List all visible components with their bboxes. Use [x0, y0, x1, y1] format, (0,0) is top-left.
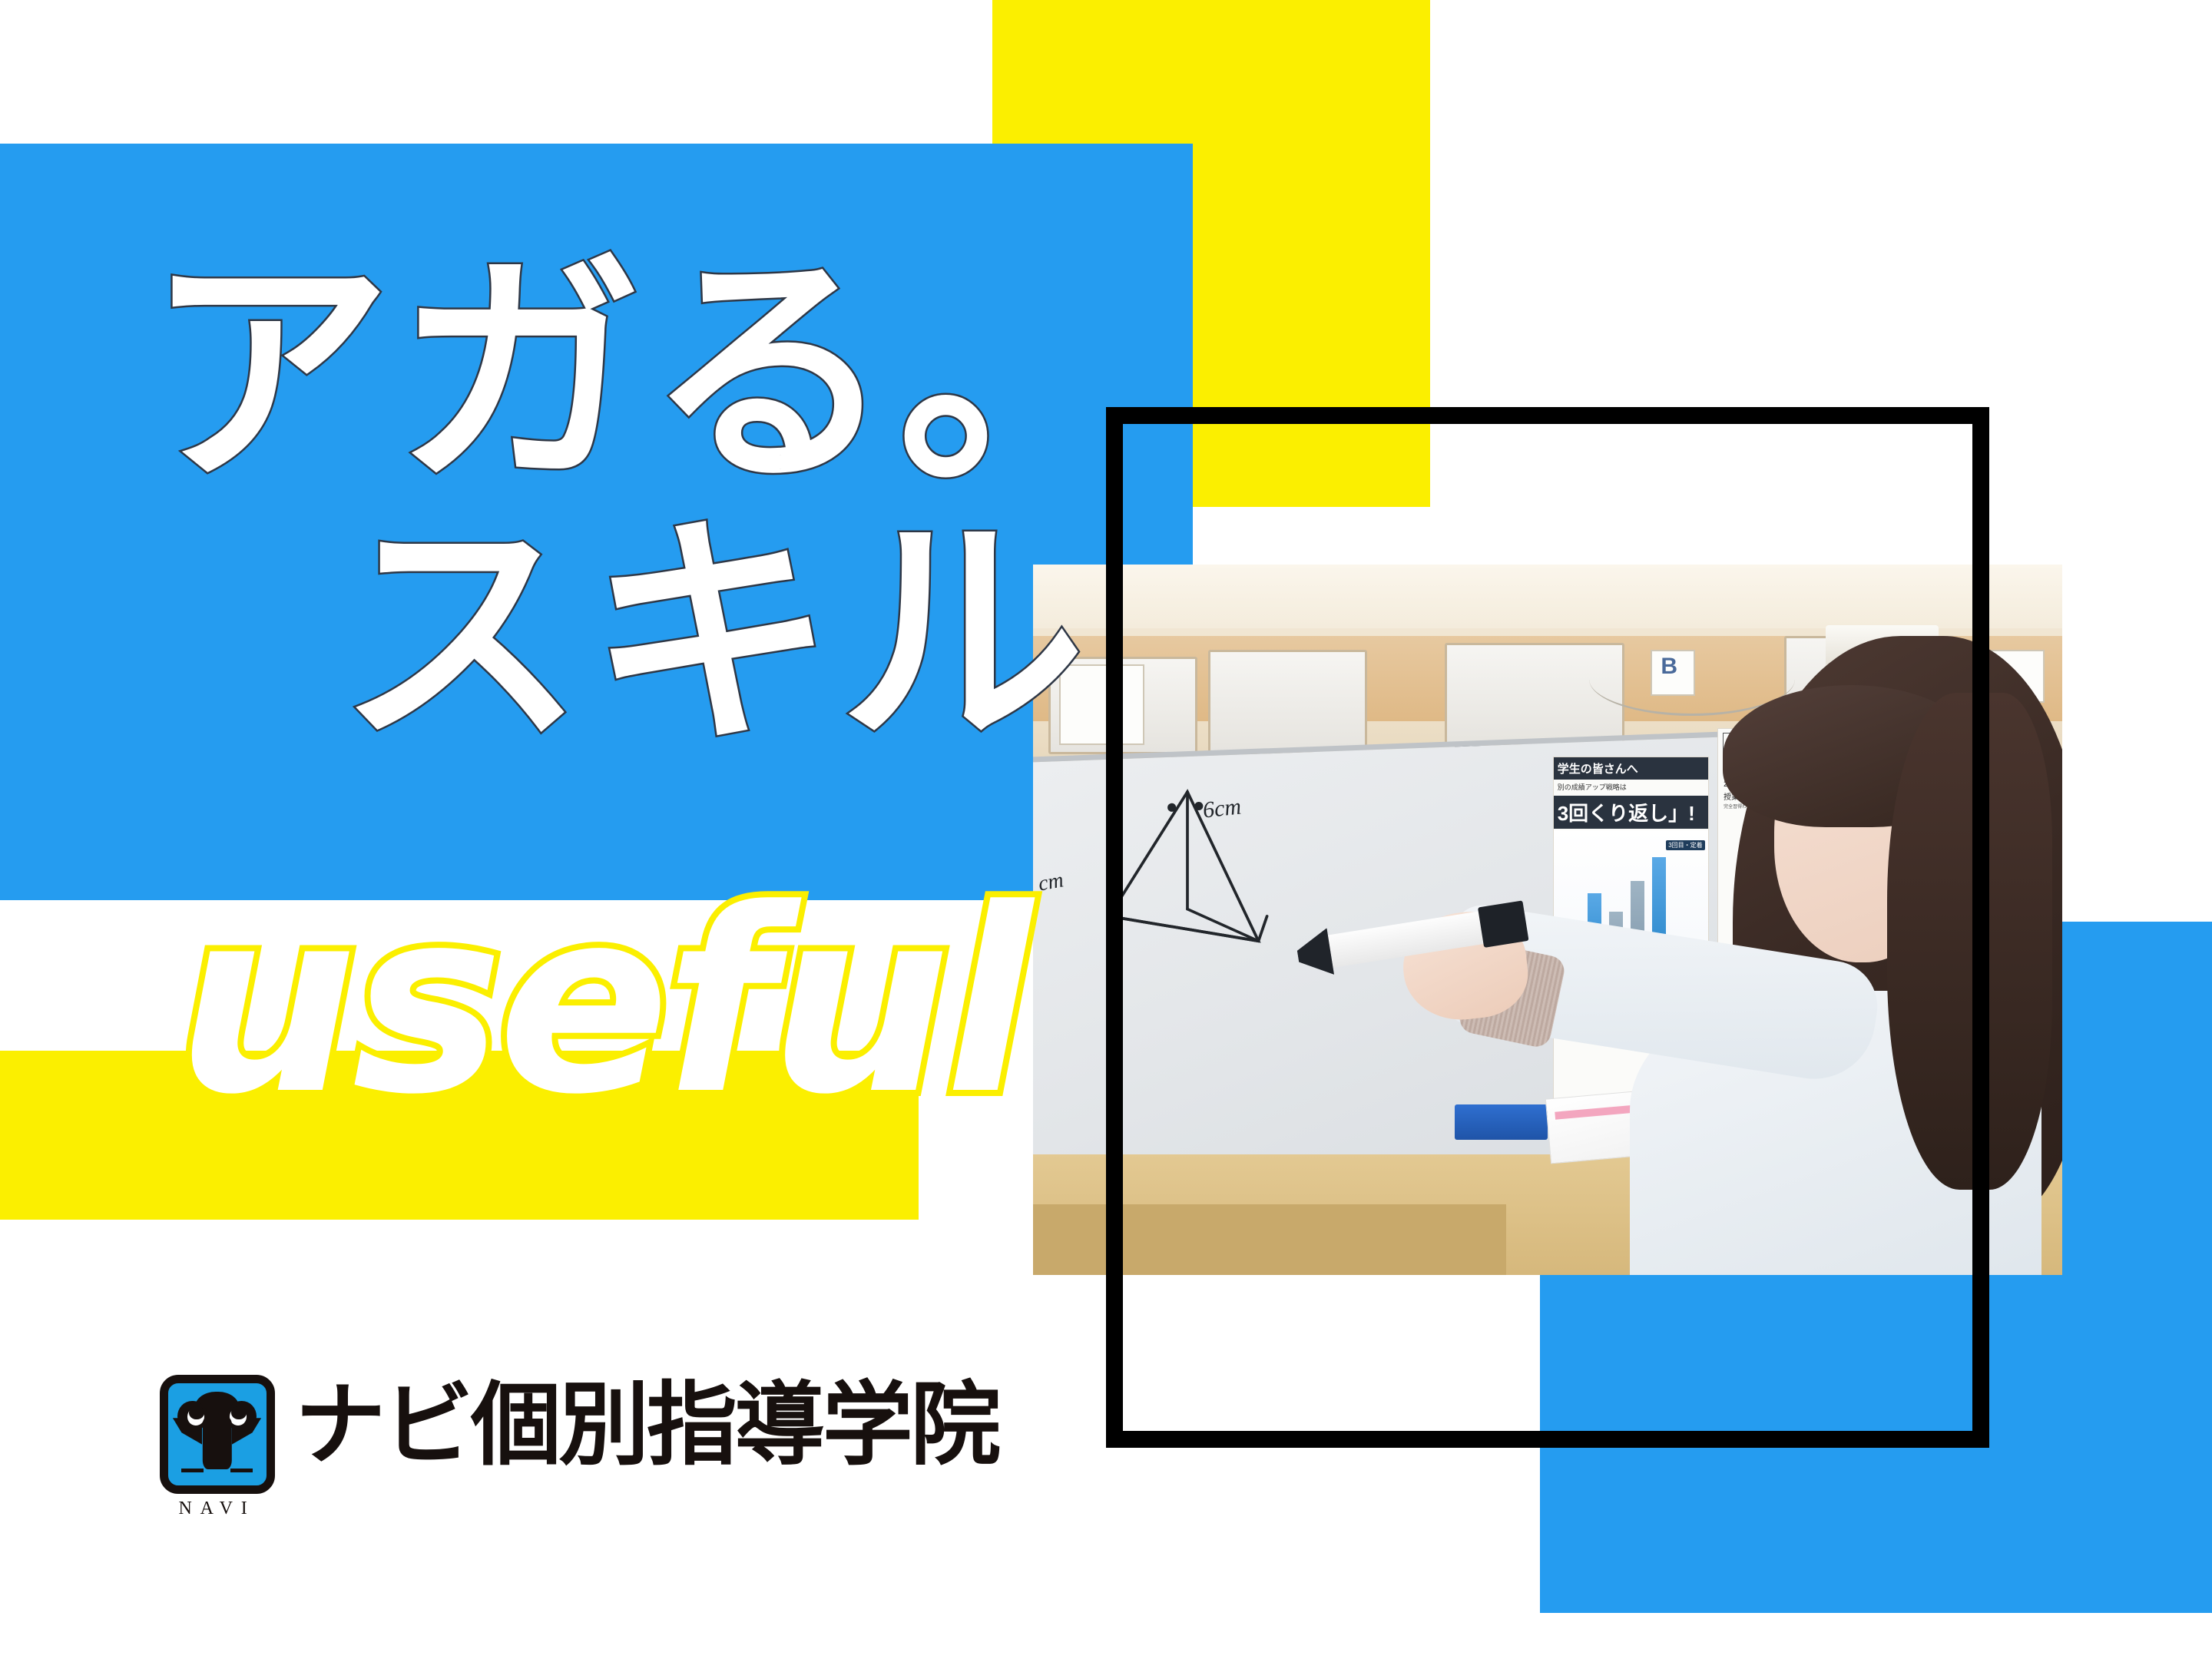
mascot-eye-right	[230, 1408, 247, 1426]
whiteboard-label-6cm: 6cm	[1201, 793, 1242, 823]
poster-canvas: B 6cm cm 学生の皆さんへ	[0, 0, 2212, 1659]
mascot-body	[202, 1418, 231, 1469]
headline-group: アガる。 スキル	[0, 144, 1193, 900]
poster-big-line: 3回くり返し」!	[1554, 796, 1708, 829]
headline-line-2: スキル	[338, 435, 1090, 791]
student-hair-side	[1887, 693, 2051, 1190]
partition-panel	[1208, 650, 1367, 754]
stapler	[1455, 1104, 1548, 1140]
logo-brand-name: ナビ個別指導学院	[295, 1379, 998, 1470]
desk-front-edge	[1033, 1204, 1506, 1276]
mascot-foot-right	[230, 1469, 252, 1472]
poster-header: 学生の皆さんへ	[1554, 757, 1708, 780]
logo-navi-label: NAVI	[178, 1498, 255, 1519]
logo-mark: NAVI	[157, 1375, 276, 1521]
poster-subhead: 別の成績アップ戦略は	[1554, 780, 1708, 794]
navi-mascot-icon	[160, 1375, 275, 1494]
brand-logo: NAVI ナビ個別指導学院	[157, 1375, 998, 1521]
tagline-useful: useful	[177, 876, 1027, 1129]
mascot-foot-left	[181, 1469, 203, 1472]
chart-tag: 3回目・定着	[1666, 840, 1704, 850]
